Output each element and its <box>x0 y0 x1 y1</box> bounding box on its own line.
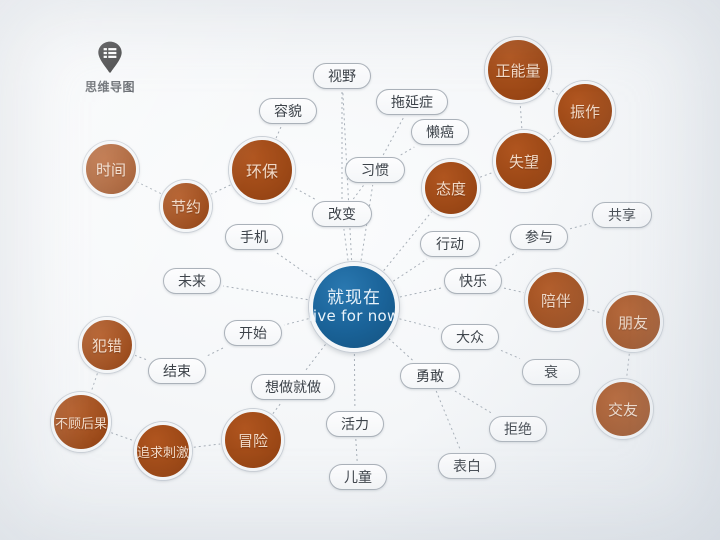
node-biaobai[interactable]: 表白 <box>438 453 496 479</box>
node-shuai[interactable]: 衰 <box>522 359 580 385</box>
connector-zhengnengliang-zhenzuo <box>548 88 558 94</box>
node-huoli[interactable]: 活力 <box>326 411 384 437</box>
node-xiguan[interactable]: 习惯 <box>345 157 405 183</box>
node-label-rongmao: 容貌 <box>274 101 302 121</box>
connector-gaibian-xiguan <box>353 185 364 199</box>
node-dazhong[interactable]: 大众 <box>441 324 499 350</box>
node-label-huoli: 活力 <box>341 414 369 434</box>
app-logo: 思维导图 <box>62 40 158 95</box>
node-label-tuoyanzheng: 拖延症 <box>391 92 433 112</box>
node-buguhouguo[interactable]: 不顾后果 <box>51 392 111 452</box>
node-huanbao[interactable]: 环保 <box>229 137 295 203</box>
node-label-xingdong: 行动 <box>436 234 464 254</box>
node-label-fancuo: 犯错 <box>92 335 122 356</box>
node-kaishi[interactable]: 开始 <box>224 320 282 346</box>
node-label-zhuiqiuciji: 追求刺激 <box>137 442 189 461</box>
node-label-jujue: 拒绝 <box>504 419 532 439</box>
node-gaibian[interactable]: 改变 <box>312 201 372 227</box>
connector-taidu-shiwang <box>480 172 493 177</box>
connector-fancuo-buguhouguo <box>91 373 97 391</box>
node-rongmao[interactable]: 容貌 <box>259 98 317 124</box>
connector-yonggan-jujue <box>455 391 493 414</box>
node-shouji[interactable]: 手机 <box>225 224 283 250</box>
node-label-huanbao: 环保 <box>246 158 278 182</box>
node-peiban[interactable]: 陪伴 <box>525 269 587 331</box>
node-shiwang[interactable]: 失望 <box>493 130 555 192</box>
node-label-zhenzuo: 振作 <box>570 101 600 122</box>
node-label-yonggan: 勇敢 <box>416 366 444 386</box>
node-label-peiban: 陪伴 <box>541 290 571 311</box>
connector-hub-kaishi <box>284 319 309 325</box>
node-label-shiwang: 失望 <box>509 151 539 172</box>
connector-shiwang-zhengnengliang <box>520 105 522 128</box>
node-label-biaobai: 表白 <box>453 456 481 476</box>
connector-hub-kuaile <box>400 288 442 297</box>
connector-zhuiqiuciji-maoxian <box>194 444 220 447</box>
mindmap-canvas: 就现在live for now时间节约环保容貌视野拖延症懒癌习惯改变手机未来开始… <box>0 0 720 540</box>
node-kuaile[interactable]: 快乐 <box>444 268 502 294</box>
connector-hub-shouji <box>275 252 315 280</box>
node-label-canyu: 参与 <box>525 227 553 247</box>
connector-hub-xiangzuo <box>304 344 325 372</box>
connector-buguhouguo-zhuiqiuciji <box>111 433 134 441</box>
node-gongxiang[interactable]: 共享 <box>592 202 652 228</box>
connector-kuaile-canyu <box>496 252 517 266</box>
connector-dazhong-shuai <box>501 350 520 358</box>
node-pengyou[interactable]: 朋友 <box>603 292 663 352</box>
connector-hub-dazhong <box>400 319 440 329</box>
connector-kaishi-jieshu <box>207 348 223 356</box>
node-label-shuai: 衰 <box>544 362 558 382</box>
connector-peiban-pengyou <box>588 309 603 313</box>
node-jiaoyou[interactable]: 交友 <box>593 379 653 439</box>
node-label-dazhong: 大众 <box>456 327 484 347</box>
node-shiye[interactable]: 视野 <box>313 63 371 89</box>
connector-hub-gaibian <box>344 229 348 260</box>
node-maoxian[interactable]: 冒险 <box>222 409 284 471</box>
node-weilai[interactable]: 未来 <box>163 268 221 294</box>
node-label-zhengnengliang: 正能量 <box>495 60 540 81</box>
node-ertong[interactable]: 儿童 <box>329 464 387 490</box>
node-label-maoxian: 冒险 <box>238 430 268 451</box>
node-label-kaishi: 开始 <box>239 323 267 343</box>
node-label-taidu: 态度 <box>436 178 466 199</box>
node-zhengnengliang[interactable]: 正能量 <box>485 37 551 103</box>
connector-huanbao-rongmao <box>276 126 281 138</box>
node-jieyue[interactable]: 节约 <box>160 180 212 232</box>
node-label-kuaile: 快乐 <box>459 271 487 291</box>
node-label-weilai: 未来 <box>178 271 206 291</box>
connector-pengyou-jiaoyou <box>627 354 630 377</box>
node-tuoyanzheng[interactable]: 拖延症 <box>376 89 448 115</box>
connector-maoxian-xiangzuo <box>273 402 282 414</box>
connector-yonggan-biaobai <box>436 391 461 451</box>
connector-jieyue-shijian <box>138 182 161 193</box>
connector-xiguan-tuoyanzheng <box>383 117 404 155</box>
logo-label: 思维导图 <box>62 78 158 95</box>
node-label-pengyou: 朋友 <box>618 312 648 333</box>
node-label-jiaoyou: 交友 <box>608 399 638 420</box>
node-label-shiye: 视野 <box>328 66 356 86</box>
node-xiangzuo[interactable]: 想做就做 <box>251 374 335 400</box>
connector-hub-yonggan <box>389 339 414 361</box>
node-label-ertong: 儿童 <box>344 467 372 487</box>
connector-jieshu-fancuo <box>135 355 146 359</box>
connector-huanbao-jieyue <box>211 185 230 194</box>
connector-xiguan-laiai <box>401 147 415 155</box>
connector-gaibian-huanbao <box>293 187 315 199</box>
connector-kuaile-peiban <box>504 288 524 293</box>
node-shijian[interactable]: 时间 <box>83 141 139 197</box>
node-canyu[interactable]: 参与 <box>510 224 568 250</box>
node-jujue[interactable]: 拒绝 <box>489 416 547 442</box>
node-label-jieshu: 结束 <box>163 361 191 381</box>
connector-canyu-gongxiang <box>570 224 590 229</box>
node-label-xiguan: 习惯 <box>361 160 389 180</box>
hub-node-central[interactable]: 就现在live for now <box>309 262 399 352</box>
node-xingdong[interactable]: 行动 <box>420 231 480 257</box>
connector-hub-weilai <box>223 286 308 300</box>
node-label-laiai: 懒癌 <box>426 122 454 142</box>
node-label-xiangzuo: 想做就做 <box>265 377 321 397</box>
node-label-jieyue: 节约 <box>171 196 201 217</box>
node-label-shijian: 时间 <box>96 159 126 180</box>
connector-shiwang-zhenzuo <box>550 131 561 140</box>
node-zhuiqiuciji[interactable]: 追求刺激 <box>134 422 192 480</box>
node-zhenzuo[interactable]: 振作 <box>555 81 615 141</box>
node-fancuo[interactable]: 犯错 <box>79 317 135 373</box>
node-yonggan[interactable]: 勇敢 <box>400 363 460 389</box>
node-label-buguhouguo: 不顾后果 <box>55 413 107 432</box>
node-label-gongxiang: 共享 <box>608 205 636 225</box>
hub-title-en: live for now <box>308 308 399 326</box>
connector-huoli-ertong <box>356 439 357 462</box>
node-taidu[interactable]: 态度 <box>422 159 480 217</box>
connector-hub-xingdong <box>393 259 427 281</box>
map-pin-list-icon <box>93 40 127 74</box>
node-jieshu[interactable]: 结束 <box>148 358 206 384</box>
hub-title-cn: 就现在 <box>327 288 381 308</box>
node-laiai[interactable]: 懒癌 <box>411 119 469 145</box>
node-label-shouji: 手机 <box>240 227 268 247</box>
node-label-gaibian: 改变 <box>328 204 356 224</box>
connector-hub-huoli <box>354 354 355 409</box>
